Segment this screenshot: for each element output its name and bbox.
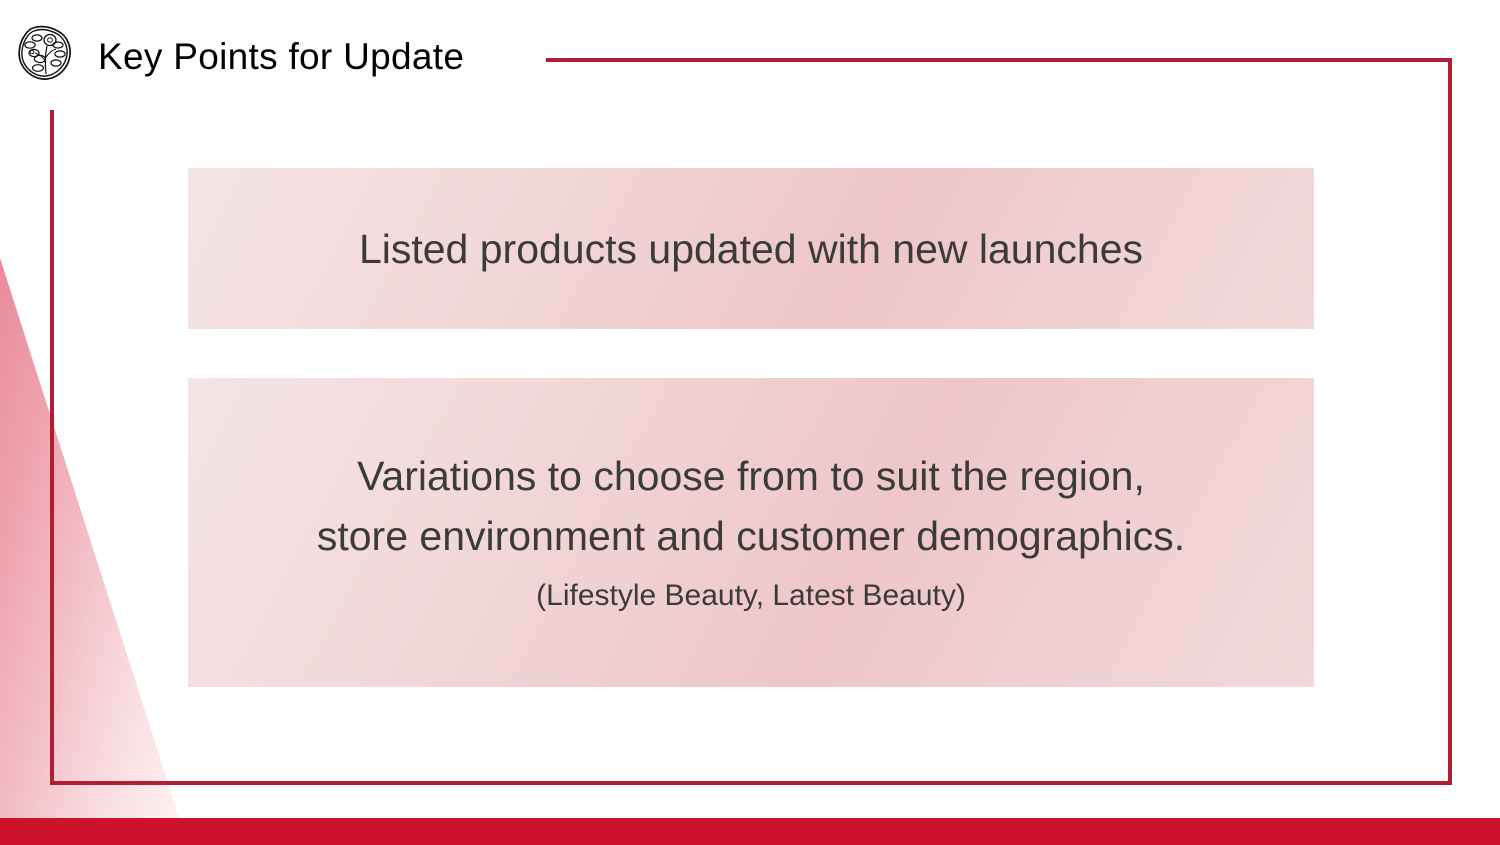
key-point-box-1-line-1: Listed products updated with new launche…: [359, 219, 1143, 279]
key-point-box-2-subtext: (Lifestyle Beauty, Latest Beauty): [536, 572, 966, 620]
frame-left-line: [50, 110, 54, 785]
key-point-box-1: Listed products updated with new launche…: [188, 168, 1314, 329]
key-point-box-2: Variations to choose from to suit the re…: [188, 378, 1314, 687]
key-point-box-2-line-2: store environment and customer demograph…: [317, 506, 1185, 566]
page-title: Key Points for Update: [98, 32, 464, 82]
decorative-left-triangle: [0, 258, 180, 820]
slide-header: Key Points for Update: [0, 0, 1500, 100]
floral-emblem-logo-icon: [16, 24, 74, 82]
bottom-accent-bar: [0, 818, 1500, 845]
key-point-box-2-lines: Variations to choose from to suit the re…: [317, 446, 1185, 620]
frame-bottom-line: [50, 781, 1452, 785]
slide-canvas: Key Points for Update Listed products up…: [0, 0, 1500, 845]
key-point-box-1-lines: Listed products updated with new launche…: [359, 219, 1143, 279]
frame-right-line: [1448, 58, 1452, 785]
key-point-box-2-line-1: Variations to choose from to suit the re…: [357, 446, 1145, 506]
